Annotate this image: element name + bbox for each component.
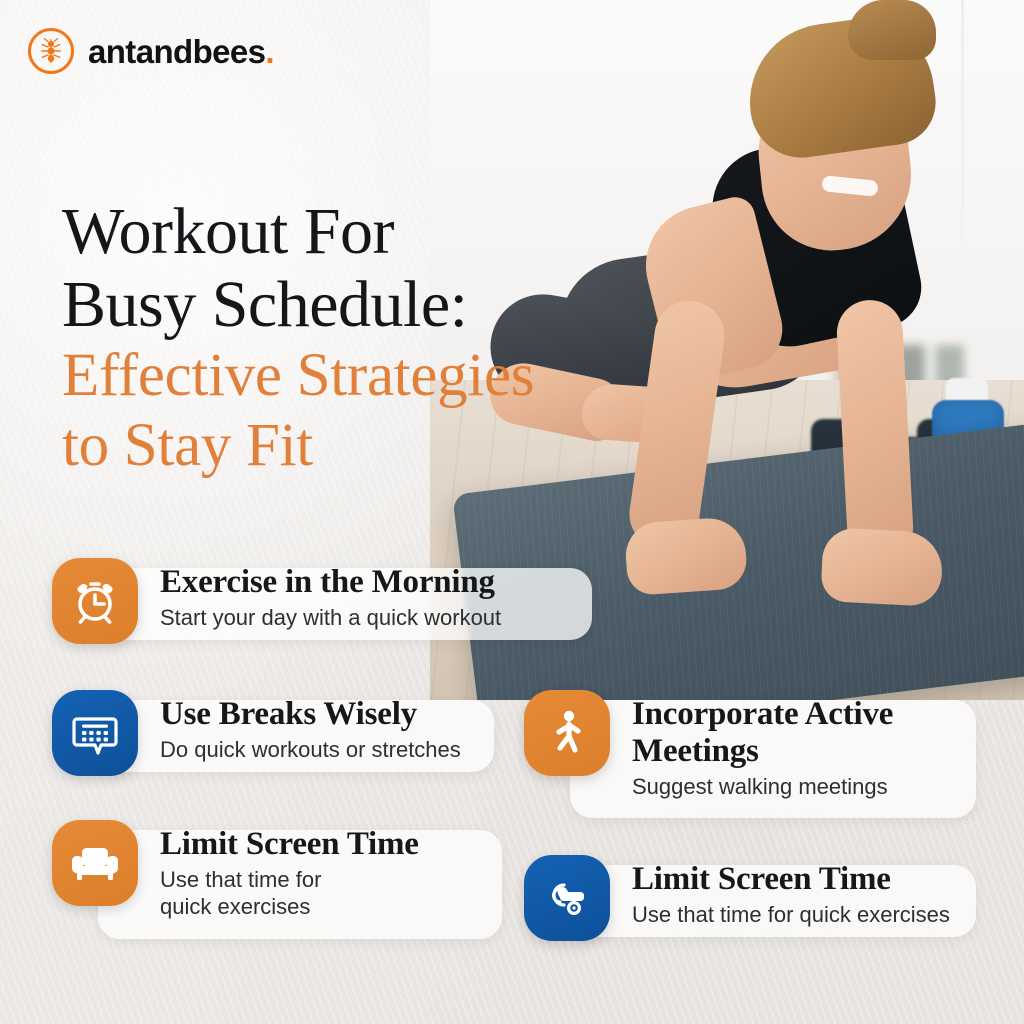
tip-card-use-breaks-wisely[interactable]: Use Breaks Wisely Do quick workouts or s… xyxy=(52,690,494,776)
sofa-icon xyxy=(52,820,138,906)
card-title: Limit Screen Time xyxy=(160,826,419,863)
card-title: Exercise in the Morning xyxy=(160,564,501,601)
person-hand-right xyxy=(820,527,944,607)
card-title: Use Breaks Wisely xyxy=(160,696,461,733)
person-hand-left xyxy=(624,516,749,596)
card-subtitle: Use that time for quick exercises xyxy=(160,866,419,921)
card-subtitle: Suggest walking meetings xyxy=(632,773,893,801)
card-content: Limit Screen Time Use that time for quic… xyxy=(154,820,441,933)
headline-line-1: Workout For xyxy=(62,196,622,269)
headline-line-2: Busy Schedule: xyxy=(62,269,622,342)
card-subtitle: Start your day with a quick workout xyxy=(160,604,501,632)
calendar-chat-icon xyxy=(52,690,138,776)
headline-accent-line-1: Effective Strategies xyxy=(62,341,622,411)
card-subtitle: Use that time for quick exercises xyxy=(632,901,950,929)
brand-dot: . xyxy=(265,33,274,70)
card-title: Limit Screen Time xyxy=(632,861,950,898)
person-arm-right xyxy=(835,298,915,561)
ant-in-circle-icon xyxy=(28,28,74,74)
page-title: Workout For Busy Schedule: Effective Str… xyxy=(62,196,622,480)
card-title: Incorporate Active Meetings xyxy=(632,696,893,770)
tip-card-incorporate-active-meetings[interactable]: Incorporate Active Meetings Suggest walk… xyxy=(524,690,976,812)
tip-card-exercise-morning[interactable]: Exercise in the Morning Start your day w… xyxy=(52,558,592,644)
brand-name: antandbees. xyxy=(88,35,274,68)
tip-card-limit-screen-time-left[interactable]: Limit Screen Time Use that time for quic… xyxy=(52,820,502,933)
brand-name-text: antandbees xyxy=(88,33,265,70)
walking-person-icon xyxy=(524,690,610,776)
alarm-clock-icon xyxy=(52,558,138,644)
card-content: Limit Screen Time Use that time for quic… xyxy=(626,855,972,940)
card-subtitle: Do quick workouts or stretches xyxy=(160,736,461,764)
person-ponytail xyxy=(848,0,936,60)
card-content: Use Breaks Wisely Do quick workouts or s… xyxy=(154,690,483,775)
infographic-poster: antandbees. Workout For Busy Schedule: E… xyxy=(0,0,1024,1024)
card-content: Incorporate Active Meetings Suggest walk… xyxy=(626,690,915,812)
brand-logo[interactable]: antandbees. xyxy=(28,28,274,74)
headline-accent-line-2: to Stay Fit xyxy=(62,411,622,481)
stroller-icon xyxy=(524,855,610,941)
tip-card-limit-screen-time-right[interactable]: Limit Screen Time Use that time for quic… xyxy=(524,855,976,941)
photo-wall-edge xyxy=(961,0,964,300)
card-content: Exercise in the Morning Start your day w… xyxy=(154,558,523,643)
